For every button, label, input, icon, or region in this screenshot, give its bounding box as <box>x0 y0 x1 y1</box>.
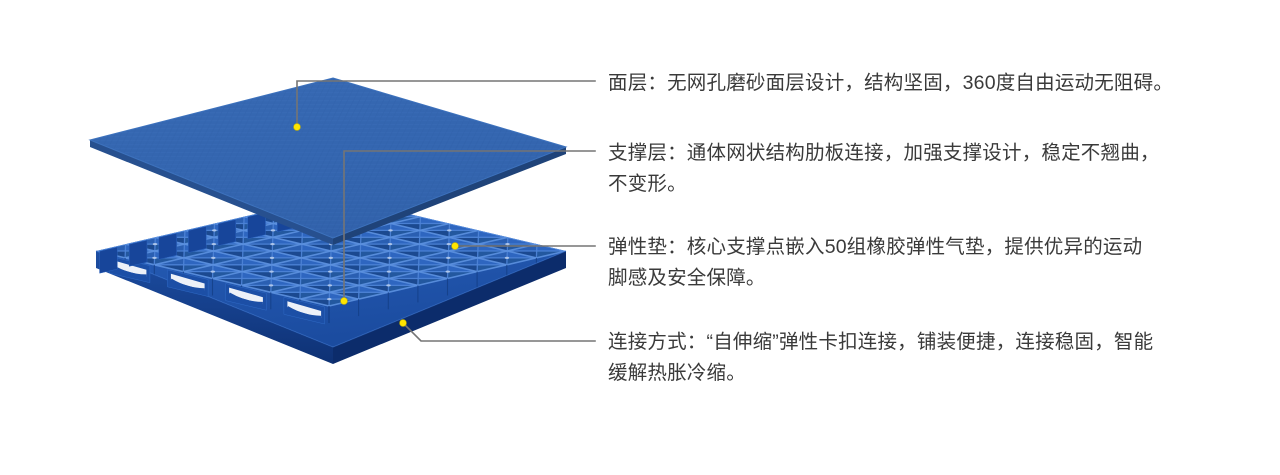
mesh-void-hole <box>387 271 391 273</box>
product-structure-diagram: 面层：无网孔磨砂面层设计，结构坚固，360度自由运动无阻碍。 支撑层：通体网状结… <box>0 0 1280 475</box>
mesh-void-hole <box>328 284 332 286</box>
mesh-void-hole <box>153 243 157 245</box>
callout-text-elastic-pad: 弹性垫：核心支撑点嵌入50组橡胶弹性气垫，提供优异的运动 脚感及安全保障。 <box>608 232 1238 293</box>
connector-tooth <box>188 226 206 252</box>
connector-tooth <box>100 247 118 273</box>
surface-pad-texture <box>90 78 566 238</box>
mesh-void-hole <box>212 229 216 231</box>
mesh-void-hole <box>269 284 273 286</box>
mesh-void-hole <box>505 257 509 259</box>
mesh-void-hole <box>152 257 156 259</box>
mesh-void-hole <box>387 257 391 259</box>
callout-text-connection-method: 连接方式：“自伸缩”弹性卡扣连接，铺装便捷，连接稳固，智能 缓解热胀冷缩。 <box>608 327 1238 388</box>
mesh-void-hole <box>328 271 332 273</box>
mesh-void-hole <box>212 243 216 245</box>
mesh-void-hole <box>447 243 451 245</box>
mesh-void-hole <box>271 229 275 231</box>
callout-text-surface-layer: 面层：无网孔磨砂面层设计，结构坚固，360度自由运动无阻碍。 <box>608 68 1238 99</box>
mesh-void-hole <box>211 271 215 273</box>
mesh-void-hole <box>211 257 215 259</box>
mesh-void-hole <box>269 271 273 273</box>
callout-text-support-layer: 支撑层：通体网状结构肋板连接，加强支撑设计，稳定不翘曲， 不变形。 <box>608 138 1238 199</box>
connector-tooth <box>129 240 147 266</box>
connector-tooth <box>218 220 236 246</box>
mesh-void-hole <box>327 298 331 300</box>
mesh-void-hole <box>329 257 333 259</box>
mesh-void-hole <box>388 229 392 231</box>
mesh-void-hole <box>505 243 509 245</box>
surface-pad-layer <box>90 78 566 245</box>
mesh-void-hole <box>270 257 274 259</box>
mesh-void-hole <box>270 243 274 245</box>
mesh-void-hole <box>447 229 451 231</box>
mesh-void-hole <box>446 271 450 273</box>
mesh-void-hole <box>446 257 450 259</box>
connector-tooth <box>159 233 177 259</box>
product-illustration <box>0 0 600 475</box>
mesh-void-hole <box>388 243 392 245</box>
mesh-void-hole <box>386 284 390 286</box>
